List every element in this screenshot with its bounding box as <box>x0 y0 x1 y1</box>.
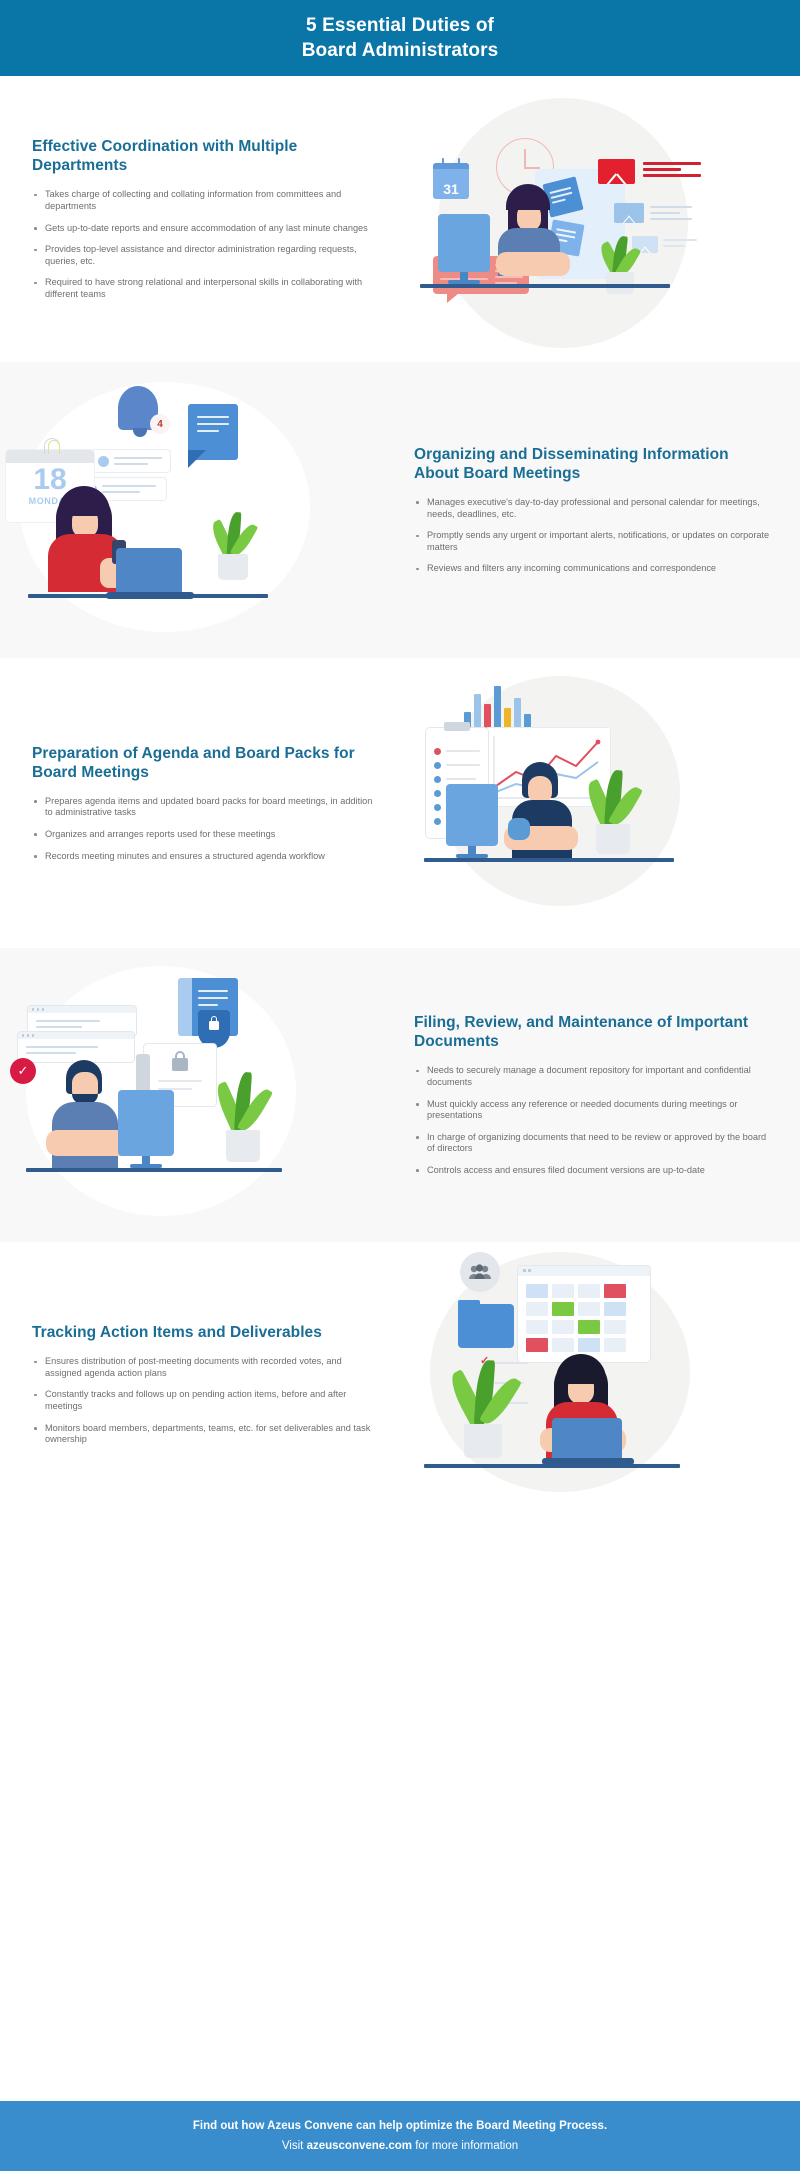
list-item: Must quickly access any reference or nee… <box>414 1099 776 1122</box>
list-item: Gets up-to-date reports and ensure accom… <box>32 223 378 235</box>
list-item: Constantly tracks and follows up on pend… <box>32 1389 378 1412</box>
list-item: In charge of organizing documents that n… <box>414 1132 776 1155</box>
section-1-title: Effective Coordination with Multiple Dep… <box>32 137 378 175</box>
calendar-day-number: 31 <box>443 181 459 197</box>
clock-hand-minute <box>524 167 540 169</box>
laptop-screen <box>116 548 182 596</box>
page-title-line-1: 5 Essential Duties of <box>306 13 494 38</box>
browser-window <box>18 1032 134 1062</box>
notification-badge: 4 <box>150 414 170 434</box>
shield-lock-icon <box>198 1010 230 1048</box>
section-2-bullets: Manages executive's day-to-day professio… <box>414 497 776 575</box>
checklist-dot <box>434 804 441 811</box>
section-document-filing: ✓ <box>0 948 800 1242</box>
section-2-title: Organizing and Disseminating Information… <box>414 445 776 483</box>
list-item: Provides top-level assistance and direct… <box>32 244 378 267</box>
monitor-screen <box>438 214 490 272</box>
list-item: Organizes and arranges reports used for … <box>32 829 378 841</box>
checklist-dot <box>434 762 441 769</box>
section-tracking-action-items: Tracking Action Items and Deliverables E… <box>0 1242 800 1527</box>
person-arms <box>496 252 570 276</box>
list-item: Takes charge of collecting and collating… <box>32 189 378 212</box>
desk-surface <box>28 594 268 598</box>
plant-pot <box>464 1424 502 1458</box>
desk-surface <box>420 284 670 288</box>
section-5-text: Tracking Action Items and Deliverables E… <box>0 1323 400 1446</box>
list-item: Promptly sends any urgent or important a… <box>414 530 776 553</box>
desk-surface <box>424 1464 680 1468</box>
footer-visit-suffix: for more information <box>412 2140 518 2152</box>
footer-visit-prefix: Visit <box>282 2140 307 2152</box>
section-3-text: Preparation of Agenda and Board Packs fo… <box>0 744 400 862</box>
list-item: Records meeting minutes and ensures a st… <box>32 851 378 863</box>
section-5-illustration: ✓ ✓ ✓ <box>400 1242 800 1527</box>
page-footer: Find out how Azeus Convene can help opti… <box>0 2101 800 2171</box>
calendar-ring-left <box>442 158 444 165</box>
document-stack-edge <box>178 978 192 1036</box>
footer-line-1: Find out how Azeus Convene can help opti… <box>193 2120 607 2132</box>
section-4-title: Filing, Review, and Maintenance of Impor… <box>414 1013 776 1051</box>
section-1-text: Effective Coordination with Multiple Dep… <box>0 137 400 300</box>
list-item: Monitors board members, departments, tea… <box>32 1423 378 1446</box>
people-group-icon <box>460 1252 500 1292</box>
list-item: Required to have strong relational and i… <box>32 277 378 300</box>
clock-hand-hour <box>524 149 526 169</box>
page-header: 5 Essential Duties of Board Administrato… <box>0 0 800 76</box>
calendar-ring-right <box>458 158 460 165</box>
desk-surface <box>424 858 674 862</box>
plant-pot <box>606 272 634 294</box>
plant-pot <box>596 824 630 854</box>
section-1-bullets: Takes charge of collecting and collating… <box>32 189 378 300</box>
list-item: Prepares agenda items and updated board … <box>32 796 378 819</box>
checklist-dot <box>434 790 441 797</box>
list-item: Manages executive's day-to-day professio… <box>414 497 776 520</box>
checklist-dot <box>434 776 441 783</box>
section-5-title: Tracking Action Items and Deliverables <box>32 1323 378 1342</box>
calendar-icon: 31 <box>433 163 469 199</box>
section-4-text: Filing, Review, and Maintenance of Impor… <box>400 1013 800 1176</box>
list-item: Needs to securely manage a document repo… <box>414 1065 776 1088</box>
checklist-dot <box>434 818 441 825</box>
laptop-screen <box>552 1418 622 1462</box>
page-title-line-2: Board Administrators <box>302 38 499 63</box>
check-badge-icon: ✓ <box>10 1058 36 1084</box>
section-5-bullets: Ensures distribution of post-meeting doc… <box>32 1356 378 1446</box>
section-3-illustration <box>400 658 800 948</box>
list-item: Controls access and ensures filed docume… <box>414 1165 776 1177</box>
people-glyph <box>468 1264 492 1280</box>
plant-pot <box>218 554 248 580</box>
section-4-bullets: Needs to securely manage a document repo… <box>414 1065 776 1176</box>
message-card <box>92 450 170 472</box>
plant-pot <box>226 1130 260 1162</box>
footer-line-2: Visit azeusconvene.com for more informat… <box>282 2140 518 2152</box>
envelope-icon-red <box>598 159 635 184</box>
list-item: Reviews and filters any incoming communi… <box>414 563 776 575</box>
section-effective-coordination: Effective Coordination with Multiple Dep… <box>0 76 800 362</box>
section-organizing-information: 4 <box>0 362 800 658</box>
section-1-illustration: 31 <box>400 76 800 362</box>
section-3-title: Preparation of Agenda and Board Packs fo… <box>32 744 378 782</box>
folder-icon <box>458 1304 514 1348</box>
section-3-bullets: Prepares agenda items and updated board … <box>32 796 378 862</box>
envelope-icon-blue <box>614 203 644 223</box>
bar-chart-icon <box>462 672 548 734</box>
task-grid-board <box>518 1266 650 1362</box>
monitor-screen <box>446 784 498 846</box>
footer-website-link[interactable]: azeusconvene.com <box>307 2140 412 2152</box>
section-2-text: Organizing and Disseminating Information… <box>400 445 800 575</box>
person-sleeve <box>508 818 530 840</box>
section-4-illustration: ✓ <box>0 948 400 1242</box>
section-2-illustration: 4 <box>0 362 400 658</box>
calendar-top-bar <box>433 163 469 169</box>
monitor-screen <box>118 1090 174 1156</box>
calendar-hook-inner <box>48 440 60 454</box>
clipboard-clip <box>444 722 470 731</box>
checklist-dot <box>434 748 441 755</box>
desk-surface <box>26 1168 282 1172</box>
section-agenda-preparation: Preparation of Agenda and Board Packs fo… <box>0 658 800 948</box>
list-item: Ensures distribution of post-meeting doc… <box>32 1356 378 1379</box>
